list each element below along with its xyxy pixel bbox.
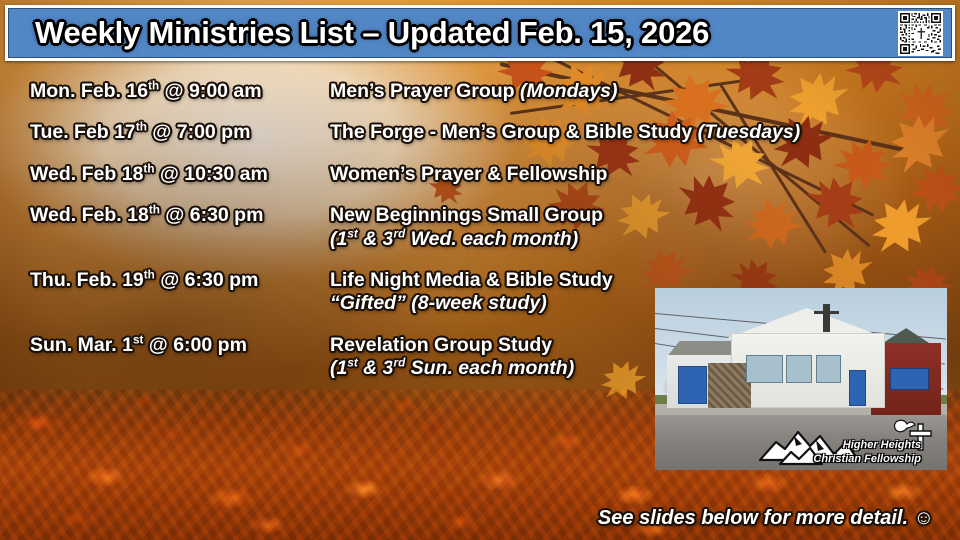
logo-line-2: Christian Fellowship [813, 453, 921, 466]
list-item: Wed. Feb 18th @ 10:30 am Women’s Prayer … [0, 163, 960, 186]
ordinal-suffix: rd [394, 227, 406, 240]
ordinal-suffix: th [143, 162, 154, 175]
roof-cross-icon [823, 304, 829, 331]
church-window [816, 355, 841, 382]
event-name: New Beginnings Small Group (1st & 3rd We… [330, 204, 960, 251]
ordinal-suffix: th [149, 204, 160, 217]
qr-code-with-cross-icon[interactable] [898, 11, 943, 56]
header-banner-frame: Weekly Ministries List – Updated Feb. 15… [5, 5, 955, 61]
ordinal-suffix: th [148, 80, 159, 93]
footer-note: See slides below for more detail. ☺ [598, 507, 934, 530]
logo-text: Higher Heights Christian Fellowship [813, 439, 921, 466]
ordinal-suffix: st [347, 227, 357, 240]
page-title: Weekly Ministries List – Updated Feb. 15… [35, 15, 898, 51]
church-window [746, 355, 783, 382]
event-name: Women’s Prayer & Fellowship [330, 163, 960, 186]
list-item: Mon. Feb. 16th @ 9:00 am Men’s Prayer Gr… [0, 80, 960, 103]
church-door[interactable] [678, 366, 706, 404]
event-datetime: Thu. Feb. 19th @ 6:30 pm [30, 269, 330, 292]
roof-cross-icon [814, 311, 839, 315]
ordinal-suffix: st [133, 333, 143, 346]
event-name: Men’s Prayer Group (Mondays) [330, 80, 960, 103]
ordinal-suffix: th [144, 268, 155, 281]
ordinal-suffix: th [136, 121, 147, 134]
logo-line-1: Higher Heights [813, 439, 921, 452]
event-datetime: Sun. Mar. 1st @ 6:00 pm [30, 334, 330, 357]
event-datetime: Tue. Feb 17th @ 7:00 pm [30, 121, 330, 144]
ministries-slide: Weekly Ministries List – Updated Feb. 15… [0, 0, 960, 540]
event-recurrence: (Mondays) [520, 80, 618, 102]
event-datetime: Wed. Feb 18th @ 10:30 am [30, 163, 330, 186]
header-banner: Weekly Ministries List – Updated Feb. 15… [8, 8, 952, 58]
event-subnote: (1st & 3rd Wed. each month) [330, 228, 960, 251]
church-window [786, 355, 811, 382]
church-building-photo: Higher Heights Christian Fellowship [655, 288, 947, 470]
event-recurrence: (Tuesdays) [698, 121, 801, 143]
church-side-door[interactable] [849, 370, 866, 407]
event-datetime: Mon. Feb. 16th @ 9:00 am [30, 80, 330, 103]
event-name: The Forge - Men’s Group & Bible Study (T… [330, 121, 960, 144]
list-item: Tue. Feb 17th @ 7:00 pm The Forge - Men’… [0, 121, 960, 144]
ordinal-suffix: st [347, 357, 357, 370]
event-datetime: Wed. Feb. 18th @ 6:30 pm [30, 204, 330, 227]
ordinal-suffix: rd [394, 357, 406, 370]
list-item: Wed. Feb. 18th @ 6:30 pm New Beginnings … [0, 204, 960, 251]
church-sign [890, 368, 930, 390]
